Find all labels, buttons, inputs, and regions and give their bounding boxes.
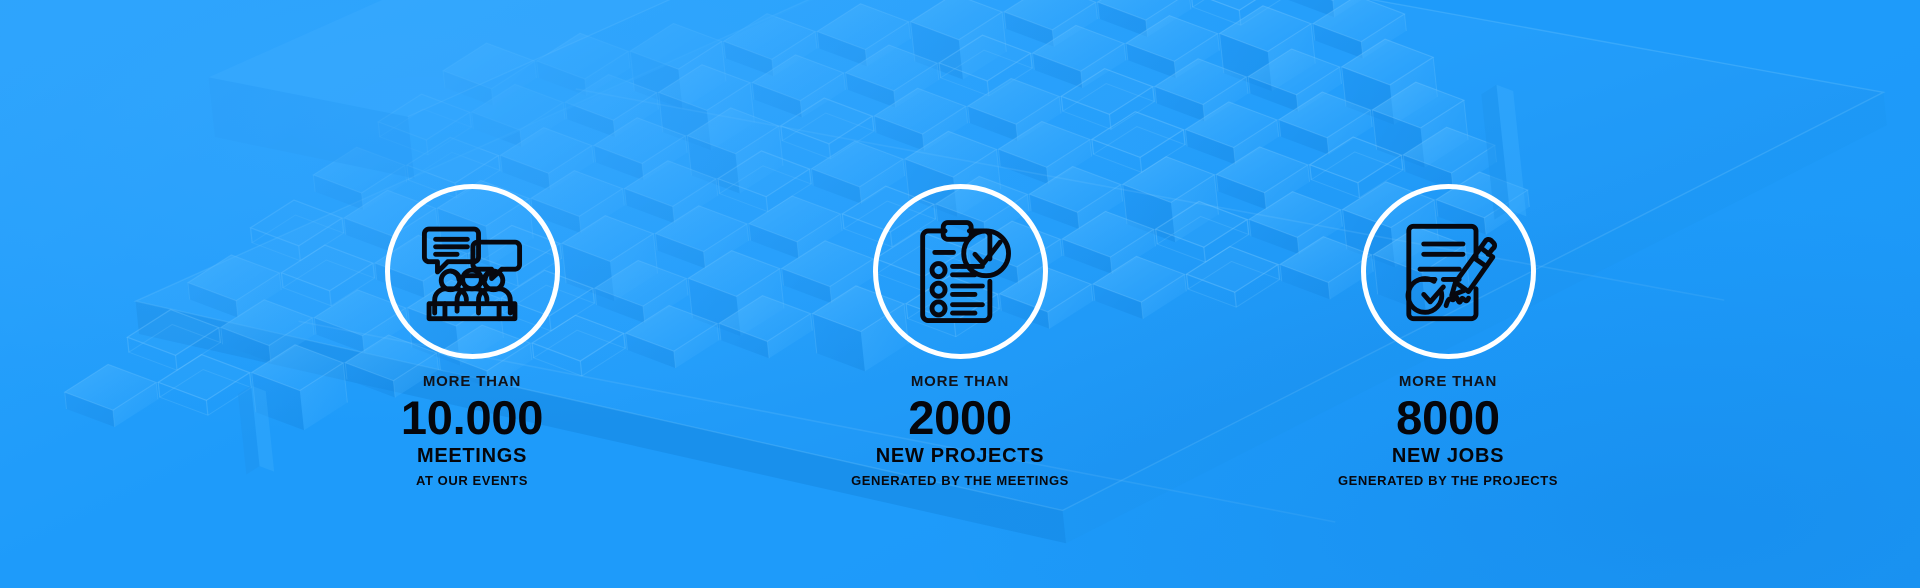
stat-label: NEW PROJECTS bbox=[851, 446, 1069, 466]
clipboard-checklist-icon bbox=[873, 184, 1048, 359]
stat-item-new-jobs: MORE THAN 8000 NEW JOBS GENERATED BY THE… bbox=[1298, 184, 1598, 487]
stat-number: 8000 bbox=[1338, 394, 1558, 442]
stat-item-new-projects: MORE THAN 2000 NEW PROJECTS GENERATED BY… bbox=[810, 184, 1110, 487]
stat-item-meetings: MORE THAN 10.000 MEETINGS AT OUR EVENTS bbox=[322, 184, 622, 487]
stat-sublabel: AT OUR EVENTS bbox=[401, 474, 543, 487]
stat-text-new-jobs: MORE THAN 8000 NEW JOBS GENERATED BY THE… bbox=[1338, 374, 1558, 487]
stat-prefix: MORE THAN bbox=[1338, 374, 1558, 389]
stat-prefix: MORE THAN bbox=[401, 374, 543, 389]
meeting-discussion-icon bbox=[385, 184, 560, 359]
stats-row: MORE THAN 10.000 MEETINGS AT OUR EVENTS bbox=[0, 184, 1920, 487]
stat-label: NEW JOBS bbox=[1338, 446, 1558, 466]
stat-label: MEETINGS bbox=[401, 446, 543, 466]
stat-sublabel: GENERATED BY THE PROJECTS bbox=[1338, 474, 1558, 487]
stat-number: 10.000 bbox=[401, 394, 543, 442]
stat-text-meetings: MORE THAN 10.000 MEETINGS AT OUR EVENTS bbox=[401, 374, 543, 487]
signed-contract-icon bbox=[1361, 184, 1536, 359]
stat-sublabel: GENERATED BY THE MEETINGS bbox=[851, 474, 1069, 487]
stats-banner: MORE THAN 10.000 MEETINGS AT OUR EVENTS bbox=[0, 0, 1920, 588]
stat-text-new-projects: MORE THAN 2000 NEW PROJECTS GENERATED BY… bbox=[851, 374, 1069, 487]
stat-prefix: MORE THAN bbox=[851, 374, 1069, 389]
stat-number: 2000 bbox=[851, 394, 1069, 442]
